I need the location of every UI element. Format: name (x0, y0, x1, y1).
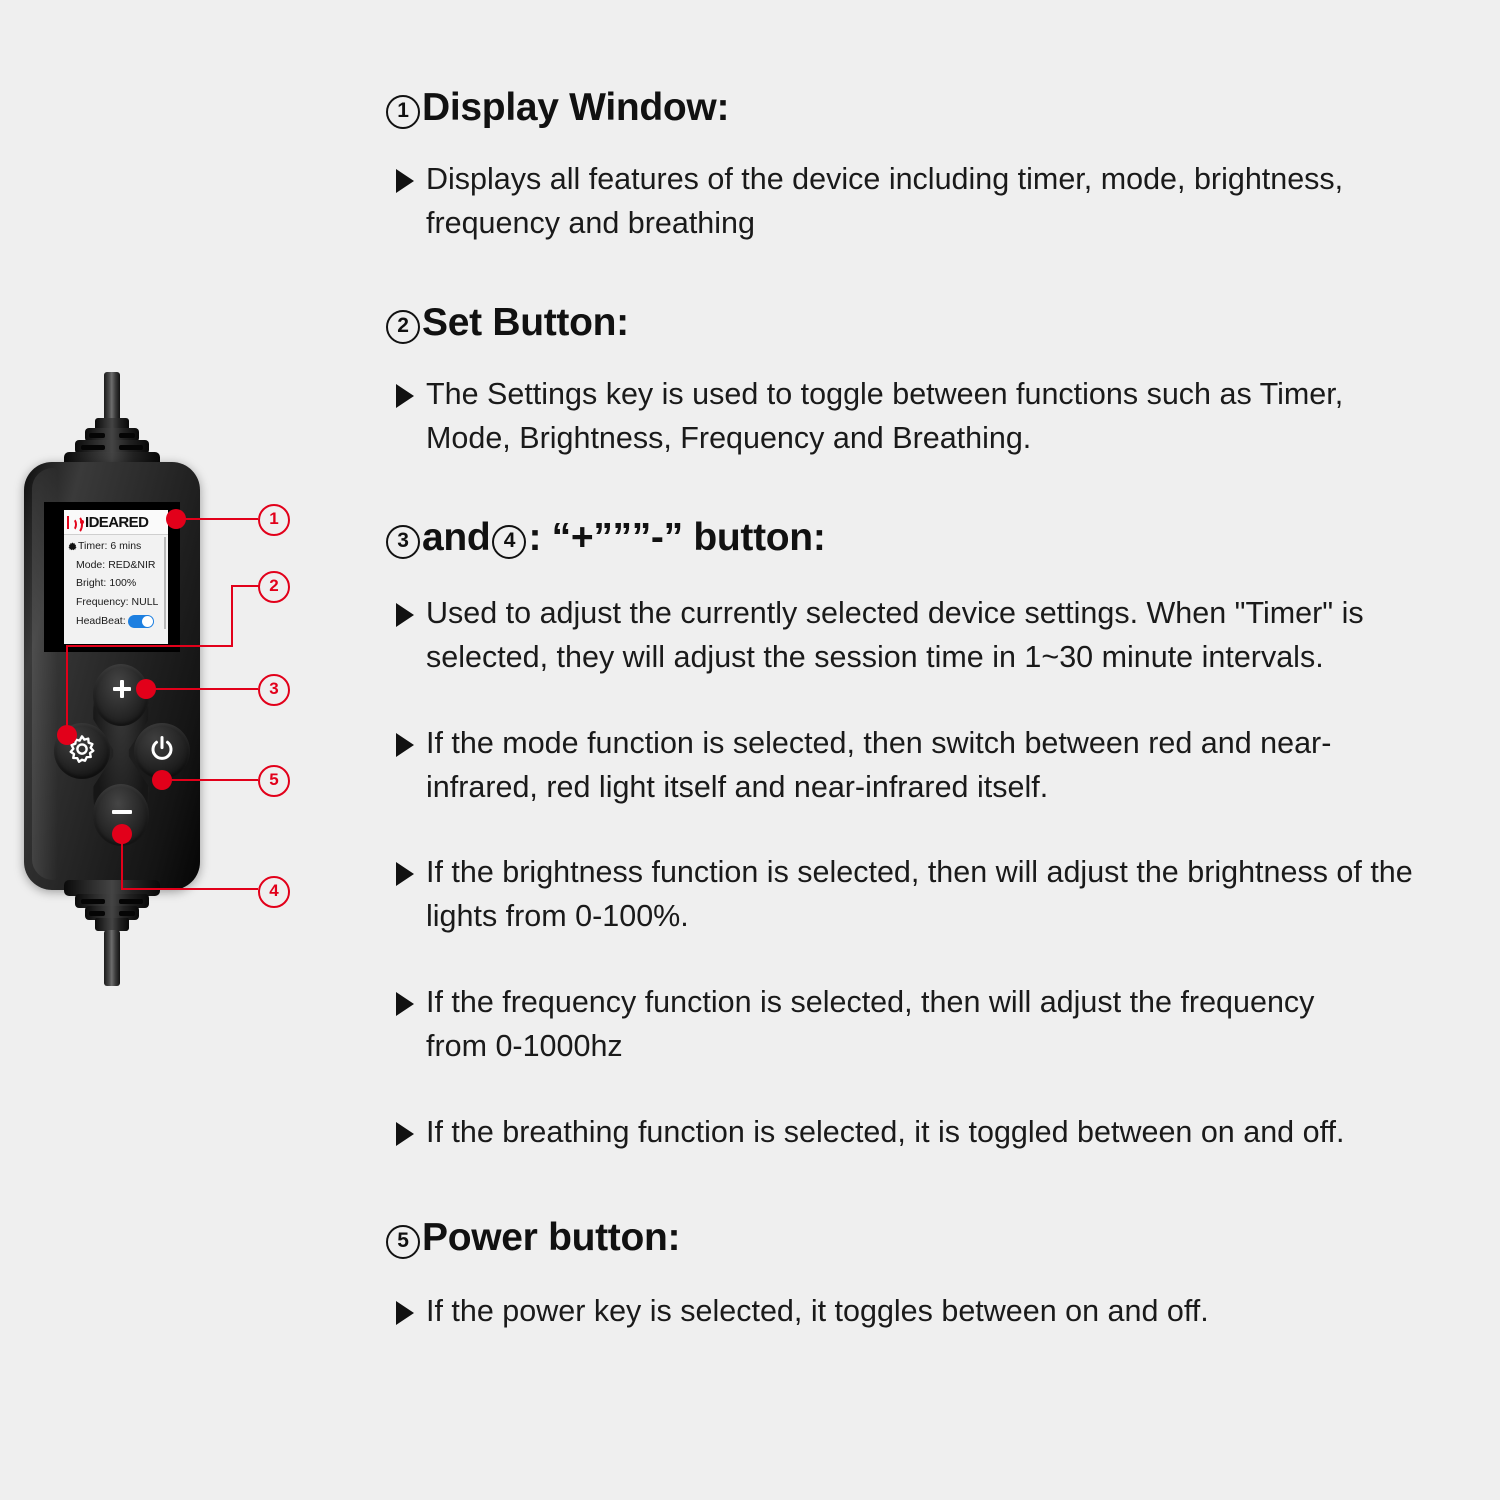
callout-3-leader (146, 688, 258, 690)
callout-3-number: 3 (258, 674, 290, 706)
section-5-title: Power button: (422, 1218, 680, 1259)
display-row-timer-value: 6 mins (110, 541, 141, 552)
power-cable-bottom (104, 930, 120, 986)
triangle-bullet-icon (396, 384, 414, 408)
triangle-bullet-icon (396, 1122, 414, 1146)
infographic-page: IDEARED Timer: 6 mins Mode: R (0, 0, 1500, 1500)
section-1-heading: 1 Display Window: (386, 88, 729, 132)
section-5-heading: 5 Power button: (386, 1218, 680, 1262)
display-row-frequency: Frequency: NULL (66, 593, 168, 612)
display-row-headbeat-label: HeadBeat: (76, 616, 126, 627)
callout-4-leader-h (121, 888, 258, 890)
callout-5-leader (162, 779, 258, 781)
display-row-headbeat: HeadBeat: (66, 611, 168, 632)
section-4-number: 4 (492, 525, 526, 559)
callout-2-leader-h2 (231, 585, 259, 587)
callout-4-number: 4 (258, 876, 290, 908)
section-3-number: 3 (386, 525, 420, 559)
section-3-title: : “+”””-” button: (528, 518, 825, 559)
callout-2-leader-v2 (231, 585, 233, 647)
display-row-mode-value: RED&NIR (108, 560, 155, 571)
callout-2-leader-v1 (66, 645, 68, 735)
callout-2-leader-h (66, 645, 232, 647)
section-2-title: Set Button: (422, 303, 629, 344)
section-1-bullet-1: Displays all features of the device incl… (396, 158, 1356, 246)
display-row-mode-label: Mode: (76, 560, 105, 571)
brand-logo: IDEARED (64, 510, 168, 535)
section-3-bullet-1-text: Used to adjust the currently selected de… (426, 592, 1481, 680)
gear-icon (68, 542, 77, 551)
section-1-bullet-1-text: Displays all features of the device incl… (426, 158, 1356, 246)
triangle-bullet-icon (396, 862, 414, 886)
display-row-bright: Bright: 100% (66, 574, 168, 593)
section-5-bullet-1: If the power key is selected, it toggles… (396, 1290, 1406, 1334)
display-row-bright-label: Bright: (76, 578, 106, 589)
section-3-bullet-5: If the breathing function is selected, i… (396, 1111, 1486, 1155)
display-rows: Timer: 6 mins Mode: RED&NIR Bright: 100%… (64, 535, 168, 632)
display-row-mode: Mode: RED&NIR (66, 556, 168, 575)
section-5-bullet-1-text: If the power key is selected, it toggles… (426, 1290, 1209, 1334)
callout-2-number: 2 (258, 571, 290, 603)
display-window[interactable]: IDEARED Timer: 6 mins Mode: R (64, 510, 168, 644)
display-scrollbar[interactable] (164, 537, 166, 629)
section-3-bullet-2-text: If the mode function is selected, then s… (426, 722, 1406, 810)
section-2-heading: 2 Set Button: (386, 303, 629, 347)
section-2-bullet-1: The Settings key is used to toggle betwe… (396, 373, 1406, 461)
section-3-bullet-5-text: If the breathing function is selected, i… (426, 1111, 1344, 1155)
callout-4-leader-v (121, 833, 123, 890)
triangle-bullet-icon (396, 1301, 414, 1325)
section-2-number: 2 (386, 310, 420, 344)
signal-wave-icon (67, 515, 84, 530)
headbeat-toggle[interactable] (128, 615, 154, 628)
minus-icon (112, 810, 132, 814)
brand-name: IDEARED (85, 515, 148, 530)
section-3-bullet-1: Used to adjust the currently selected de… (396, 592, 1486, 680)
section-3-bullet-4: If the frequency function is selected, t… (396, 981, 1356, 1069)
triangle-bullet-icon (396, 992, 414, 1016)
triangle-bullet-icon (396, 603, 414, 627)
display-row-frequency-label: Frequency: (76, 597, 129, 608)
display-row-frequency-value: NULL (132, 597, 159, 608)
device-illustration: IDEARED Timer: 6 mins Mode: R (0, 0, 340, 1500)
callout-5-number: 5 (258, 765, 290, 797)
section-2-bullet-1-text: The Settings key is used to toggle betwe… (426, 373, 1406, 461)
section-3-bullet-3: If the brightness function is selected, … (396, 851, 1486, 939)
triangle-bullet-icon (396, 169, 414, 193)
section-5-number: 5 (386, 1225, 420, 1259)
power-icon (147, 734, 177, 769)
display-row-timer: Timer: 6 mins (66, 537, 168, 556)
triangle-bullet-icon (396, 733, 414, 757)
section-3-heading: 3 and 4 : “+”””-” button: (386, 518, 826, 562)
display-row-bright-value: 100% (109, 578, 136, 589)
callout-1-leader (176, 518, 258, 520)
section-3-bullet-2: If the mode function is selected, then s… (396, 722, 1406, 810)
section-3-bullet-4-text: If the frequency function is selected, t… (426, 981, 1356, 1069)
section-3-and-label: and (422, 518, 490, 559)
section-1-title: Display Window: (422, 88, 729, 129)
section-1-number: 1 (386, 95, 420, 129)
callout-1-number: 1 (258, 504, 290, 536)
plus-icon (113, 680, 131, 698)
section-3-bullet-3-text: If the brightness function is selected, … (426, 851, 1481, 939)
display-row-timer-label: Timer: (78, 541, 107, 552)
